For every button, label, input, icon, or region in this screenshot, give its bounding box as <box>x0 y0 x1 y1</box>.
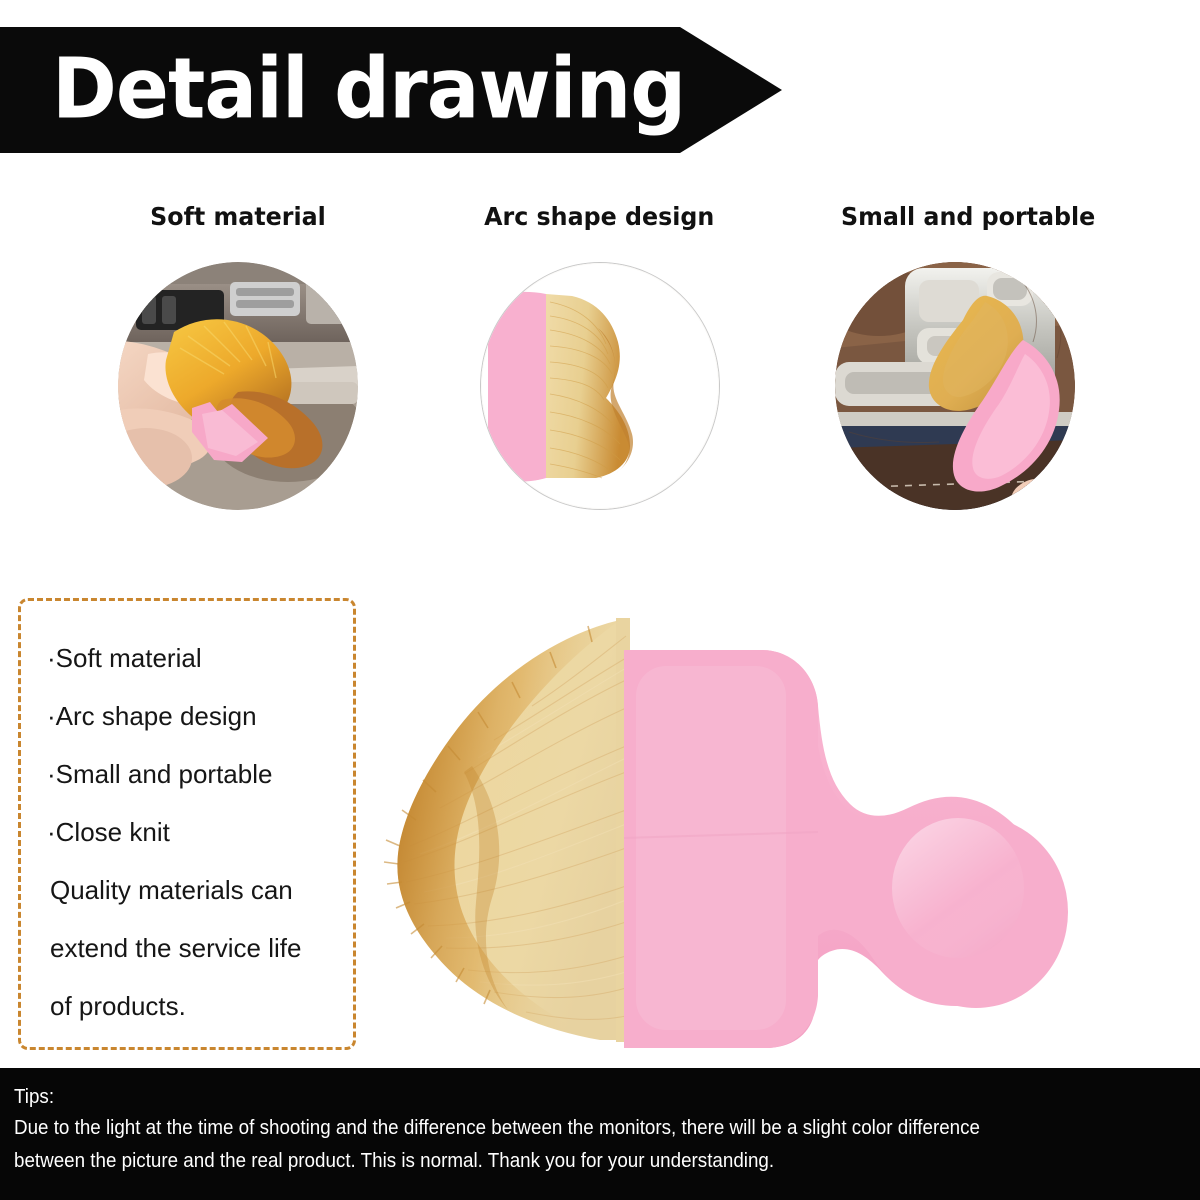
feature-bullet: ·Soft material <box>47 629 353 687</box>
header-banner: Detail drawing <box>0 27 782 153</box>
feature-bullet: ·Arc shape design <box>47 687 353 745</box>
feature-photo-soft-material <box>118 262 358 510</box>
feature-label: Soft material <box>124 200 352 234</box>
feature-photo-arc-shape <box>480 262 720 510</box>
feature-item-arc-shape-design: Arc shape design <box>480 200 720 234</box>
feature-highlights-row: Soft material <box>0 200 1200 520</box>
feature-label: Arc shape design <box>484 200 712 234</box>
feature-paragraph-line: extend the service life <box>50 919 353 977</box>
tips-line-2: between the picture and the real product… <box>14 1145 1116 1178</box>
tips-footer: Tips: Due to the light at the time of sh… <box>0 1068 1200 1200</box>
feature-bullet: ·Close knit <box>47 803 353 861</box>
feature-label: Small and portable <box>841 200 1069 234</box>
features-list-box: ·Soft material ·Arc shape design ·Small … <box>18 598 356 1050</box>
feature-bullet: ·Small and portable <box>47 745 353 803</box>
page-title: Detail drawing <box>52 46 685 130</box>
feature-paragraph-line: Quality materials can <box>50 861 353 919</box>
feature-paragraph-line: of products. <box>50 977 353 1035</box>
feature-item-small-and-portable: Small and portable <box>835 200 1075 234</box>
tips-line-1: Due to the light at the time of shooting… <box>14 1112 1116 1145</box>
feature-photo-small-portable <box>835 262 1075 510</box>
hero-product-image <box>380 596 1200 1056</box>
feature-item-soft-material: Soft material <box>118 200 358 234</box>
tips-title: Tips: <box>14 1082 1116 1112</box>
